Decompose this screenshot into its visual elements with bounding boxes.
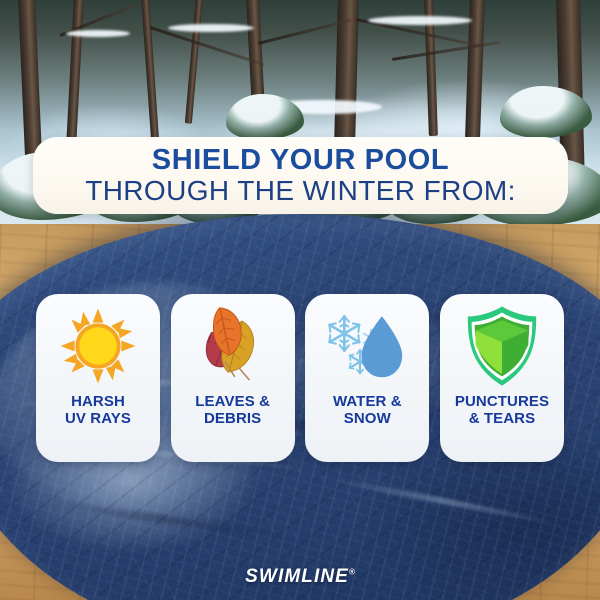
- feature-card-punctures-tears[interactable]: PUNCTURES & TEARS: [440, 294, 564, 462]
- feature-card-harsh-uv-rays[interactable]: HARSH UV RAYS: [36, 294, 160, 462]
- feature-label: WATER & SNOW: [329, 394, 406, 428]
- trademark-symbol: ®: [349, 568, 355, 577]
- feature-label: LEAVES & DEBRIS: [191, 394, 274, 428]
- snow-cap: [66, 30, 130, 37]
- headline-primary: SHIELD YOUR POOL: [152, 146, 450, 176]
- snow-cap: [368, 16, 472, 25]
- swimline-logo: SWIMLINE®: [0, 566, 600, 588]
- card-icon-slot: [171, 294, 295, 394]
- feature-label: PUNCTURES & TEARS: [451, 394, 553, 428]
- product-feature-graphic: SHIELD YOUR POOL THROUGH THE WINTER FROM…: [0, 0, 600, 600]
- headline-banner: SHIELD YOUR POOL THROUGH THE WINTER FROM…: [33, 137, 568, 214]
- headline-secondary: THROUGH THE WINTER FROM:: [85, 177, 516, 206]
- water-droplet-shape: [362, 316, 403, 377]
- snow-cap: [168, 24, 254, 32]
- card-icon-slot: [36, 294, 160, 394]
- snowflake-waterdrop-icon: [324, 306, 410, 386]
- feature-label: HARSH UV RAYS: [61, 394, 135, 428]
- autumn-leaves-icon: [192, 306, 274, 386]
- feature-card-row: HARSH UV RAYS: [36, 294, 564, 462]
- shield-cube-icon: [463, 304, 541, 388]
- card-icon-slot: [305, 294, 429, 394]
- feature-card-leaves-debris[interactable]: LEAVES & DEBRIS: [171, 294, 295, 462]
- feature-card-water-snow[interactable]: WATER & SNOW: [305, 294, 429, 462]
- card-icon-slot: [440, 294, 564, 394]
- brand-name: SWIMLINE: [245, 566, 349, 587]
- sun-icon: [59, 307, 137, 385]
